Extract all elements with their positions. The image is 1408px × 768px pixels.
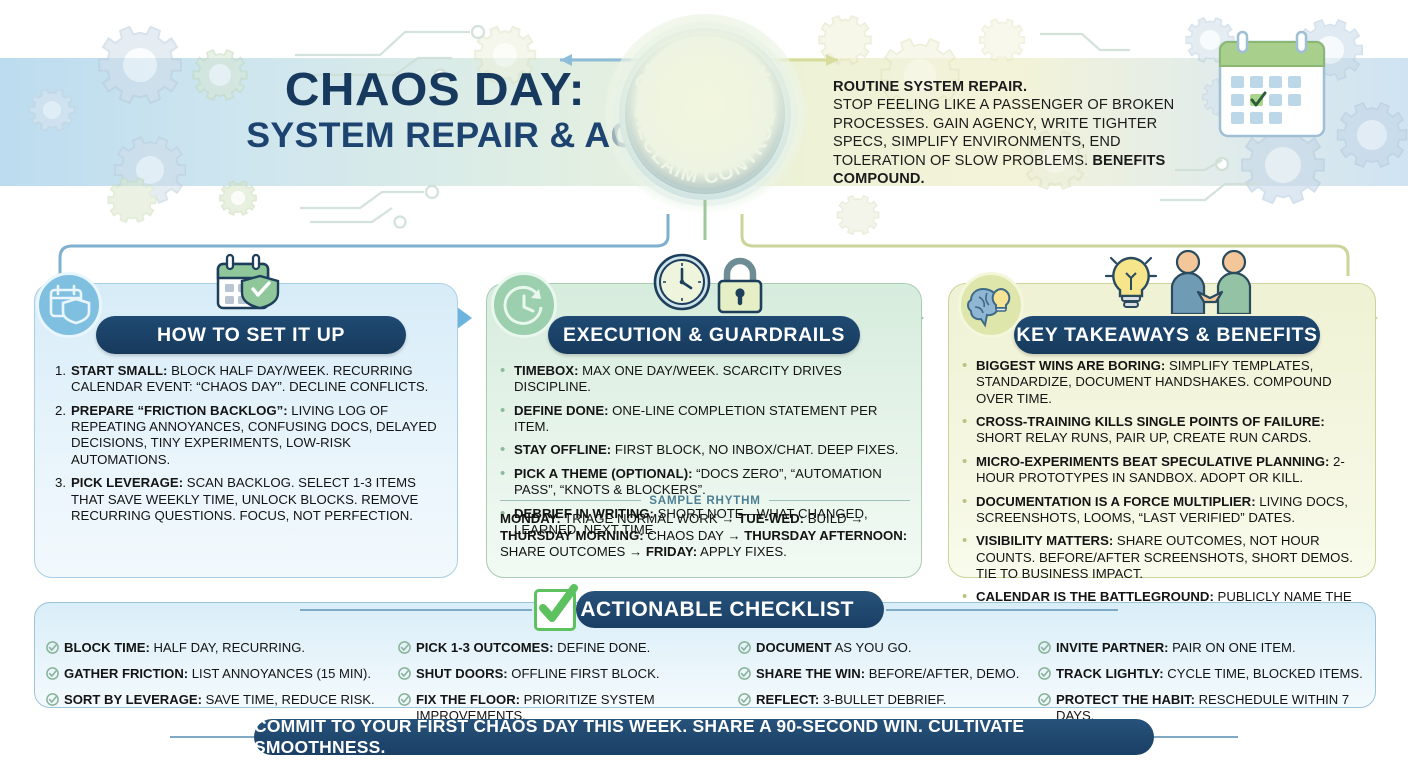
check-circle-icon [46,641,64,658]
panel-title-setup: HOW TO SET IT UP [96,316,406,354]
check-circle-icon [738,667,756,684]
item-text: TRACK LIGHTLY: CYCLE TIME, BLOCKED ITEMS… [1056,666,1363,682]
item-text: CROSS-TRAINING KILLS SINGLE POINTS OF FA… [976,414,1368,447]
item-text: STAY OFFLINE: FIRST BLOCK, NO INBOX/CHAT… [514,442,898,459]
checklist-rule-right [886,609,1118,611]
item-text: DEFINE DONE: ONE-LINE COMPLETION STATEME… [514,403,912,436]
bullet-icon: • [962,494,976,527]
list-item: 1. START SMALL: BLOCK HALF DAY/WEEK. REC… [52,363,444,396]
checklist-item: SHUT DOORS: OFFLINE FIRST BLOCK. [398,666,738,684]
item-text: BIGGEST WINS ARE BORING: SIMPLIFY TEMPLA… [976,358,1368,407]
list-item: • DEFINE DONE: ONE-LINE COMPLETION STATE… [500,403,912,436]
item-text: PREPARE “FRICTION BACKLOG”: LIVING LOG O… [71,403,444,468]
sample-rhythm-header: SAMPLE RHYTHM [500,494,910,507]
list-item: • STAY OFFLINE: FIRST BLOCK, NO INBOX/CH… [500,442,912,459]
checklist-title: ACTIONABLE CHECKLIST [576,591,884,628]
item-text: MICRO-EXPERIMENTS BEAT SPECULATIVE PLANN… [976,454,1368,487]
page-title: CHAOS DAY: SYSTEM REPAIR & AGENCY [250,66,620,155]
panel-title-takeaways: KEY TAKEAWAYS & BENEFITS [1014,316,1320,354]
item-text: SHUT DOORS: OFFLINE FIRST BLOCK. [416,666,659,682]
item-number: 3. [52,475,71,524]
green-check-box-icon [534,589,576,631]
list-item: • BIGGEST WINS ARE BORING: SIMPLIFY TEMP… [962,358,1368,407]
intro-lead: ROUTINE SYSTEM REPAIR. [833,79,1027,95]
item-text: GATHER FRICTION: LIST ANNOYANCES (15 MIN… [64,666,371,682]
item-text: SHARE THE WIN: BEFORE/AFTER, DEMO. [756,666,1019,682]
footer-rule-right [1154,736,1238,738]
list-item: • DOCUMENTATION IS A FORCE MULTIPLIER: L… [962,494,1368,527]
list-item: • CROSS-TRAINING KILLS SINGLE POINTS OF … [962,414,1368,447]
item-text: PICK 1-3 OUTCOMES: DEFINE DONE. [416,640,650,656]
badge-glow [605,14,805,214]
checklist-item: REFLECT: 3-BULLET DEBRIEF. [738,692,1038,710]
clock-icon [652,252,712,312]
bullet-icon: • [962,358,976,407]
list-item: • VISIBILITY MATTERS: SHARE OUTCOMES, NO… [962,533,1368,582]
check-circle-icon [398,641,416,658]
footer-rule-left [170,736,254,738]
check-circle-icon [738,641,756,658]
checklist-item: DOCUMENT AS YOU GO. [738,640,1038,658]
lock-icon [714,256,766,314]
rule-right [769,500,910,501]
list-item: 3. PICK LEVERAGE: SCAN BACKLOG. SELECT 1… [52,475,444,524]
checklist-item: INVITE PARTNER: PAIR ON ONE ITEM. [1038,640,1364,658]
check-circle-icon [738,693,756,710]
checklist-item: SORT BY LEVERAGE: SAVE TIME, REDUCE RISK… [46,692,398,710]
check-circle-icon [46,667,64,684]
rule-left [500,500,641,501]
bullet-icon: • [500,403,514,436]
check-circle-icon [46,693,64,710]
check-circle-icon [1038,667,1056,684]
title-line-2: SYSTEM REPAIR & AGENCY [246,117,623,156]
sample-rhythm: SAMPLE RHYTHM MONDAY: TRIAGE NORMAL WORK… [500,494,910,561]
item-text: DOCUMENTATION IS A FORCE MULTIPLIER: LIV… [976,494,1368,527]
list-item: • TIMEBOX: MAX ONE DAY/WEEK. SCARCITY DR… [500,363,912,396]
handshake-icon [1164,250,1260,314]
bullet-icon: • [500,363,514,396]
item-text: INVITE PARTNER: PAIR ON ONE ITEM. [1056,640,1296,656]
check-circle-icon [1038,641,1056,658]
list-item: • MICRO-EXPERIMENTS BEAT SPECULATIVE PLA… [962,454,1368,487]
infographic-root: CHAOS DAY: SYSTEM REPAIR & AGENCY CHAOS … [0,0,1408,768]
panel-title-execution: EXECUTION & GUARDRAILS [548,316,860,354]
checklist-item: SHARE THE WIN: BEFORE/AFTER, DEMO. [738,666,1038,684]
chaos-day-badge: CHAOS DAY: RECLAIM CONTROL [605,14,805,214]
sample-rhythm-label: SAMPLE RHYTHM [649,494,761,507]
sample-rhythm-body: MONDAY: TRIAGE NORMAL WORK → TUE-WED: BU… [500,511,910,561]
check-circle-icon [398,693,416,710]
check-circle-icon [398,667,416,684]
item-text: SORT BY LEVERAGE: SAVE TIME, REDUCE RISK… [64,692,375,708]
item-text: REFLECT: 3-BULLET DEBRIEF. [756,692,946,708]
item-number: 1. [52,363,71,396]
bullet-icon: • [962,454,976,487]
bullet-icon: • [962,533,976,582]
checklist-item: BLOCK TIME: HALF DAY, RECURRING. [46,640,398,658]
checklist-rule-left [300,609,532,611]
item-text: PICK LEVERAGE: SCAN BACKLOG. SELECT 1-3 … [71,475,444,524]
list-item: 2. PREPARE “FRICTION BACKLOG”: LIVING LO… [52,403,444,468]
lightbulb-icon [1100,250,1162,312]
item-text: START SMALL: BLOCK HALF DAY/WEEK. RECURR… [71,363,444,396]
calendar-check-icon [212,252,286,314]
check-circle-icon [1038,693,1056,710]
footer-banner: COMMIT TO YOUR FIRST CHAOS DAY THIS WEEK… [254,719,1154,755]
item-text: BLOCK TIME: HALF DAY, RECURRING. [64,640,305,656]
item-text: TIMEBOX: MAX ONE DAY/WEEK. SCARCITY DRIV… [514,363,912,396]
checklist-item: GATHER FRICTION: LIST ANNOYANCES (15 MIN… [46,666,398,684]
calendar-shield-icon [36,272,102,338]
list-takeaways: • BIGGEST WINS ARE BORING: SIMPLIFY TEMP… [962,358,1368,629]
list-setup: 1. START SMALL: BLOCK HALF DAY/WEEK. REC… [52,363,444,531]
checklist-item: PICK 1-3 OUTCOMES: DEFINE DONE. [398,640,738,658]
checklist-item: TRACK LIGHTLY: CYCLE TIME, BLOCKED ITEMS… [1038,666,1364,684]
title-line-1: CHAOS DAY: [243,66,628,113]
bullet-icon: • [962,414,976,447]
intro-text: ROUTINE SYSTEM REPAIR. STOP FEELING LIKE… [833,78,1213,188]
clock-rotate-icon [491,272,557,338]
bullet-icon: • [500,442,514,459]
item-text: VISIBILITY MATTERS: SHARE OUTCOMES, NOT … [976,533,1368,582]
item-text: DOCUMENT AS YOU GO. [756,640,911,656]
item-number: 2. [52,403,71,468]
